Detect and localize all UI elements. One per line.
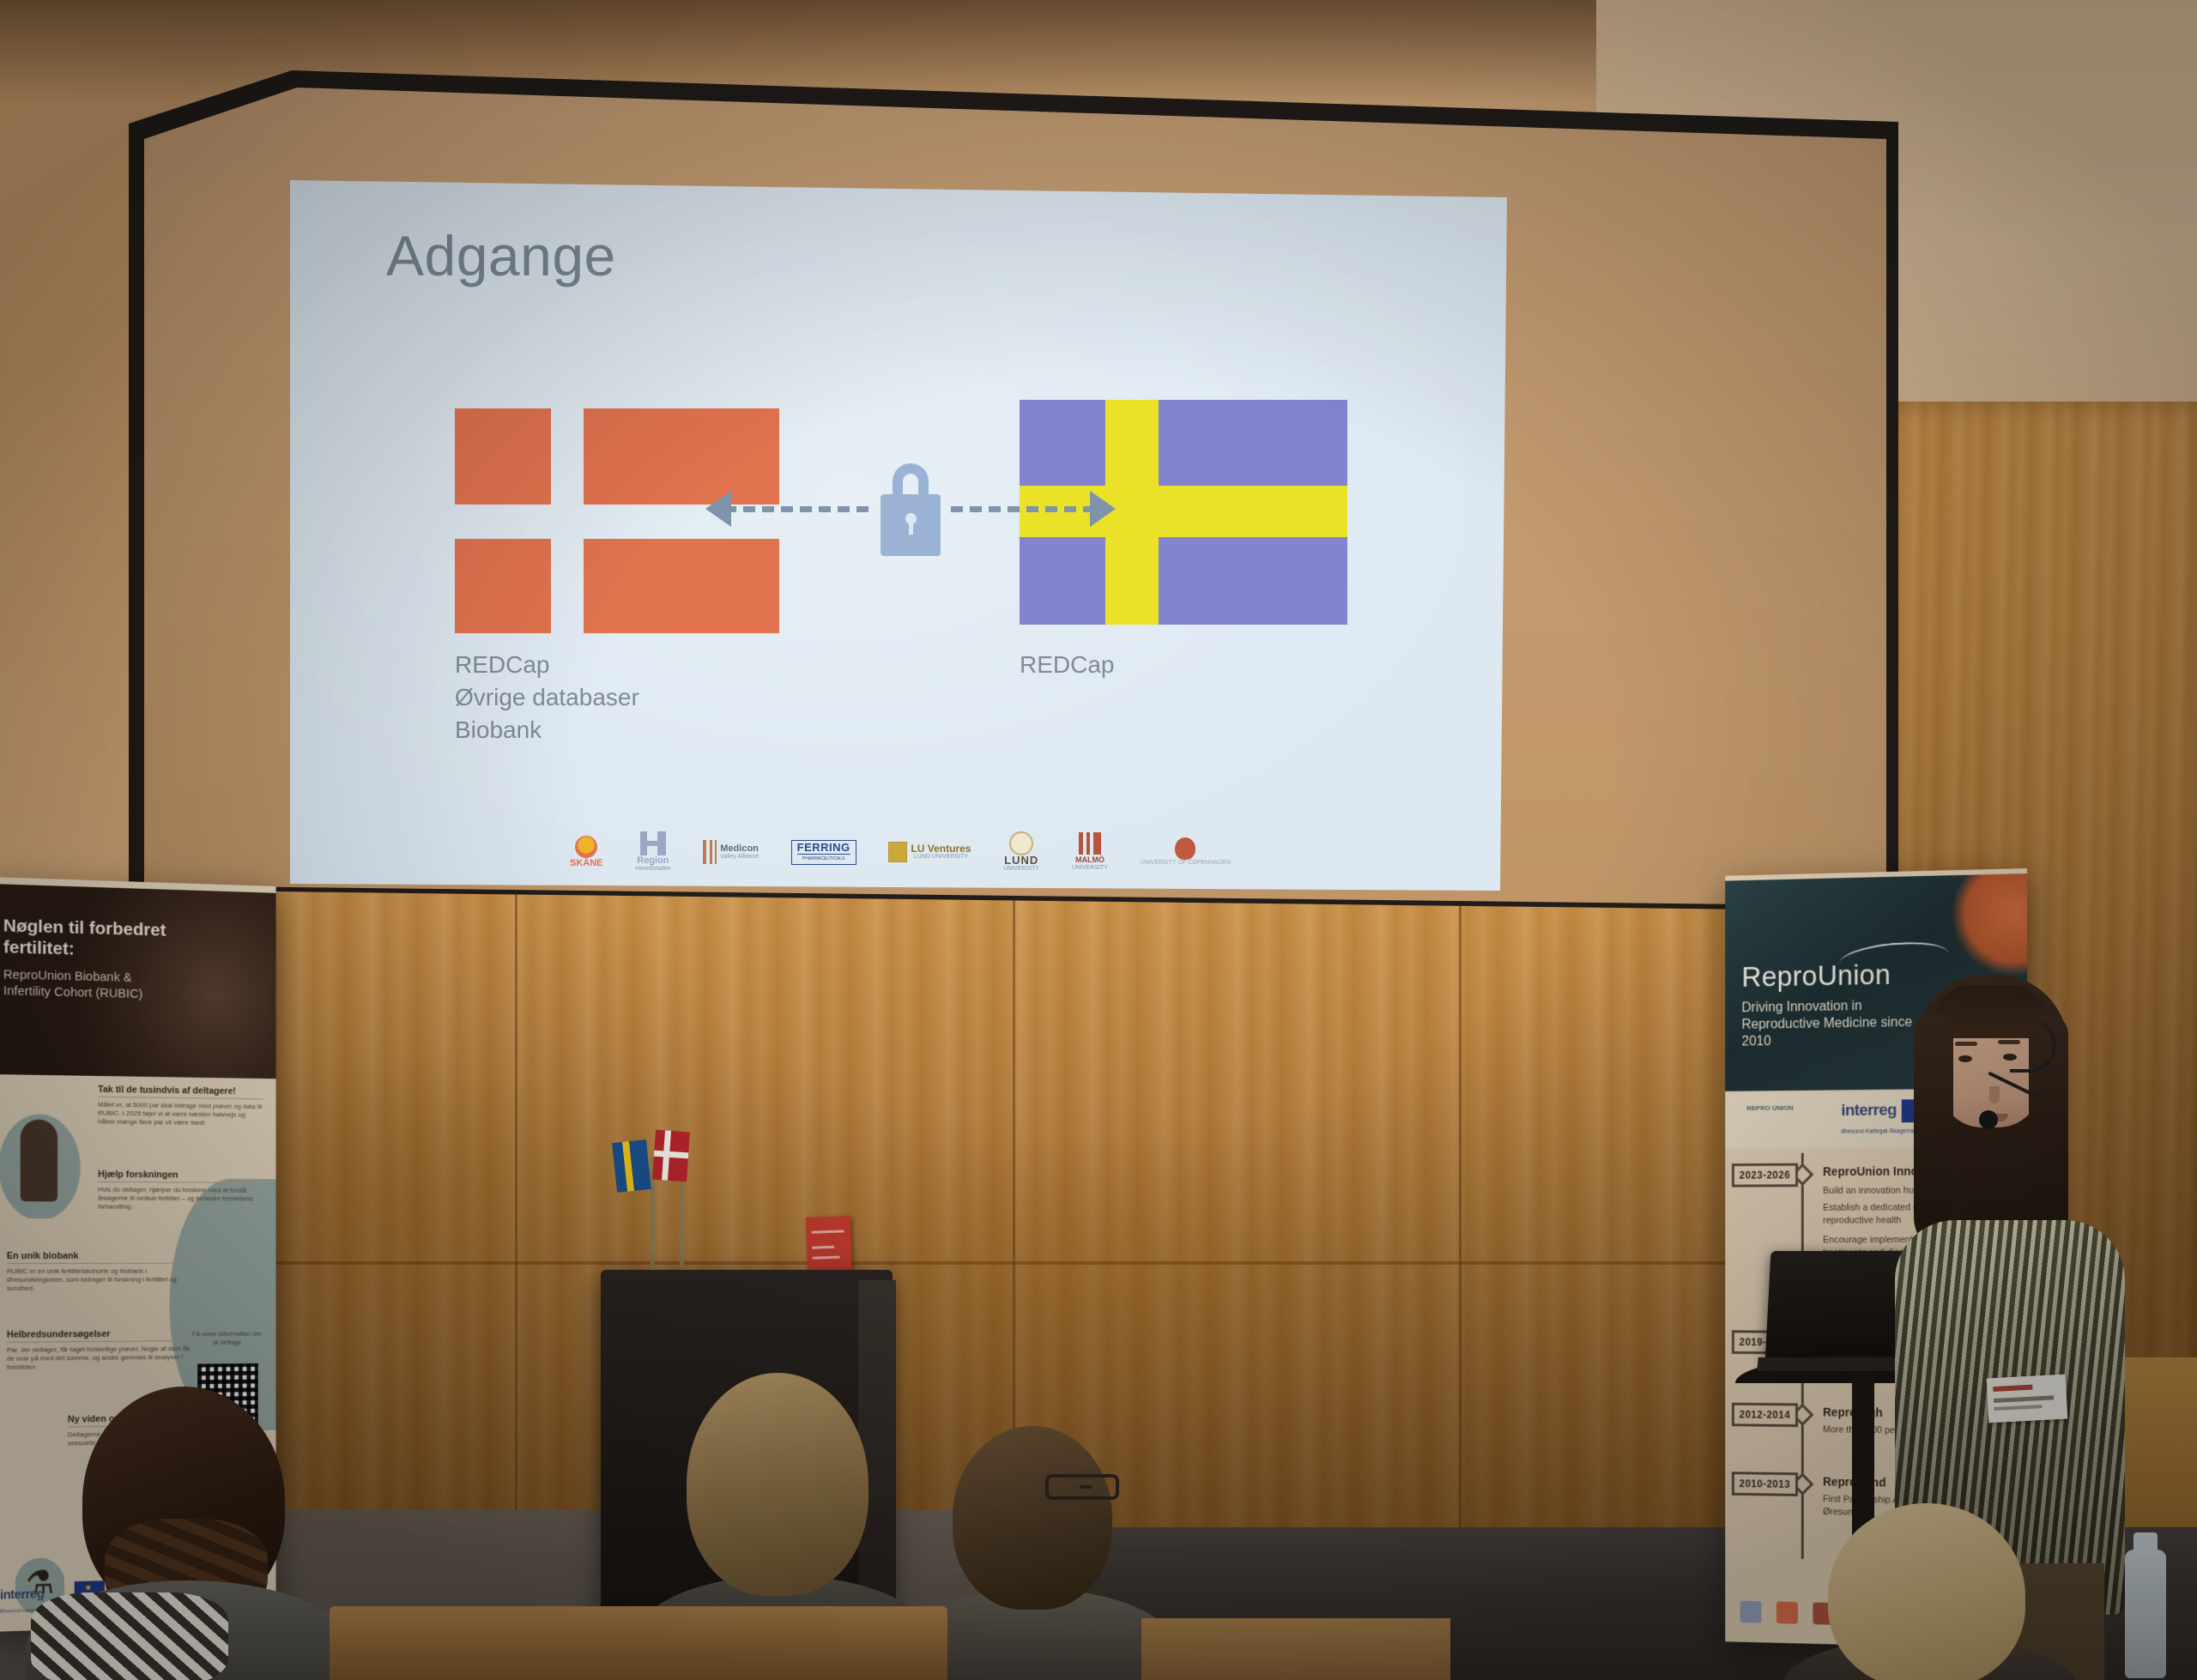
- section-body: Målet er, at 5000 par skal bidrage med p…: [98, 1101, 263, 1128]
- lund-seal-icon: [1009, 831, 1033, 855]
- region-mark-icon: [640, 831, 666, 855]
- logo-subtext: PHARMACEUTICALS: [797, 854, 850, 862]
- eyeglasses-icon: [1045, 1474, 1119, 1500]
- ferring-box: FERRING PHARMACEUTICALS: [791, 840, 856, 865]
- wood-panel-seam: [515, 892, 517, 1544]
- eyebrow: [1955, 1042, 1977, 1046]
- water-bottle: [2125, 1550, 2166, 1678]
- logo-subtext: UNIVERSITY: [1003, 866, 1039, 873]
- badge-line: [1993, 1385, 2032, 1392]
- flag-quadrant: [455, 539, 551, 633]
- presenter-hair-side: [1914, 1014, 1953, 1229]
- wood-panel-seam: [1459, 892, 1462, 1544]
- arrow-right-icon: [1090, 491, 1116, 527]
- sweden-flag-icon: [1020, 400, 1347, 625]
- denmark-table-flag: [652, 1130, 690, 1182]
- lu-mark-icon: [888, 842, 907, 862]
- banner-section: Helbredsundersøgelser Par, der deltager,…: [7, 1328, 199, 1371]
- eye: [1958, 1055, 1972, 1062]
- slide-title: Adgange: [386, 223, 616, 288]
- partner-logo-chip: [1776, 1602, 1798, 1624]
- padlock-keyhole-stem: [909, 521, 913, 535]
- card-text-line: [812, 1246, 834, 1249]
- denmark-label-line: REDCap: [455, 649, 639, 681]
- logo-subtext: Hovedstaden: [635, 866, 670, 873]
- seating-bench: [1141, 1618, 1450, 1680]
- section-heading: En unik biobank: [7, 1251, 199, 1264]
- timeline-year: 2023-2026: [1732, 1163, 1798, 1187]
- badge-line: [1994, 1395, 2054, 1403]
- malmo-mark-icon: [1079, 832, 1101, 855]
- section-body: Par, der deltager, får taget forskellige…: [7, 1345, 199, 1372]
- logo-text: SKÅNE: [570, 858, 603, 868]
- banner-title: ReproUnion: [1741, 958, 1891, 994]
- skane-mark-icon: [575, 836, 597, 858]
- dashed-connector: [724, 506, 869, 512]
- audience-member-3: [953, 1426, 1112, 1610]
- banner-section: Tak til de tusindvis af deltagere! Målet…: [98, 1085, 263, 1128]
- nose: [1989, 1086, 2000, 1103]
- microphone-icon: [1979, 1110, 1998, 1129]
- lu-ventures-logo: LU Ventures LUND UNIVERSITY: [888, 842, 971, 862]
- qr-caption: Få mere information om at deltage: [190, 1330, 265, 1347]
- presentation-slide: Adgange REDCap Øvrige databaser: [290, 178, 1507, 897]
- malmo-university-logo: MALMÖ UNIVERSITY: [1072, 832, 1108, 872]
- sweden-labels: REDCap: [1020, 649, 1114, 681]
- banner-section: Hjælp forskningen Hvis du deltager, hjæl…: [98, 1169, 263, 1212]
- medicon-valley-alliance-logo: Medicon Valley Alliance: [703, 840, 759, 864]
- interreg-logo: interreg: [1841, 1102, 1896, 1121]
- mva-mark-icon: [703, 840, 717, 864]
- section-heading: Hjælp forskningen: [98, 1169, 263, 1183]
- sweden-table-flag: [612, 1139, 651, 1193]
- seating-bench: [330, 1606, 947, 1680]
- logo-text: MALMÖ: [1075, 855, 1105, 865]
- ferring-logo: FERRING PHARMACEUTICALS: [791, 840, 856, 865]
- logo-subtext: UNIVERSITY OF COPENHAGEN: [1141, 860, 1231, 867]
- card-text-line: [811, 1230, 844, 1233]
- university-of-copenhagen-logo: UNIVERSITY OF COPENHAGEN: [1141, 837, 1231, 867]
- lund-university-logo: LUND UNIVERSITY: [1003, 831, 1039, 873]
- programme-name: Øresund-Kattegat-Skagerrak: [1841, 1128, 1916, 1135]
- sweden-label-line: REDCap: [1020, 649, 1114, 681]
- flag-quadrant: [584, 539, 779, 633]
- logo-text: LU Ventures: [911, 843, 971, 854]
- ku-seal-icon: [1175, 837, 1195, 860]
- denmark-label-line: Øvrige databaser: [455, 681, 639, 714]
- repro-union-logo: REPRO UNION: [1746, 1104, 1793, 1112]
- banner-headline: Nøglen til forbedret fertilitet:: [3, 915, 179, 962]
- flag-quadrant: [584, 408, 779, 505]
- banner-silhouette-illustration: [0, 1090, 88, 1218]
- badge-line: [1994, 1405, 2042, 1411]
- sponsor-logo-strip: SKÅNE Region Hovedstaden Medicon Valley …: [570, 824, 1231, 880]
- denmark-label-line: Biobank: [455, 714, 639, 746]
- logo-text: Region: [637, 855, 669, 866]
- skane-logo: SKÅNE: [570, 836, 603, 868]
- name-badge: [1987, 1375, 2068, 1423]
- padlock-icon: [881, 462, 941, 556]
- region-hovedstaden-logo: Region Hovedstaden: [635, 831, 670, 873]
- logo-text: FERRING: [797, 843, 850, 853]
- flag-quadrant: [455, 408, 551, 505]
- partner-logo-chip: [1740, 1601, 1762, 1623]
- denmark-labels: REDCap Øvrige databaser Biobank: [455, 649, 639, 746]
- red-info-card: [806, 1216, 852, 1272]
- banner-subhead: ReproUnion Biobank & Infertility Cohort …: [3, 966, 175, 1002]
- lecture-hall-photo: Adgange REDCap Øvrige databaser: [0, 0, 2197, 1680]
- section-body: Hvis du deltager, hjælper du forskere me…: [98, 1186, 263, 1212]
- logo-text: LUND: [1004, 855, 1038, 866]
- logo-subtext: UNIVERSITY: [1072, 865, 1108, 872]
- bottle-cap: [2133, 1532, 2158, 1555]
- section-body: RUBIC er en unik fertilitetskohorte og b…: [7, 1267, 199, 1293]
- section-heading: Tak til de tusindvis af deltagere!: [98, 1085, 263, 1100]
- timeline-year: 2012-2014: [1732, 1403, 1798, 1427]
- dashed-connector: [951, 506, 1095, 512]
- interreg-logo: interreg: [0, 1586, 44, 1602]
- banner-section: En unik biobank RUBIC er en unik fertili…: [7, 1251, 199, 1293]
- audience-scarf: [31, 1592, 228, 1680]
- audience-member-4: [1828, 1503, 2025, 1680]
- audience-member-2: [687, 1373, 869, 1596]
- card-text-line: [813, 1256, 840, 1260]
- logo-text: Medicon: [720, 843, 759, 854]
- logo-subtext: LUND UNIVERSITY: [911, 854, 971, 861]
- timeline-year: 2010-2013: [1732, 1472, 1798, 1496]
- section-heading: Helbredsundersøgelser: [7, 1328, 199, 1342]
- logo-subtext: Valley Alliance: [720, 854, 759, 861]
